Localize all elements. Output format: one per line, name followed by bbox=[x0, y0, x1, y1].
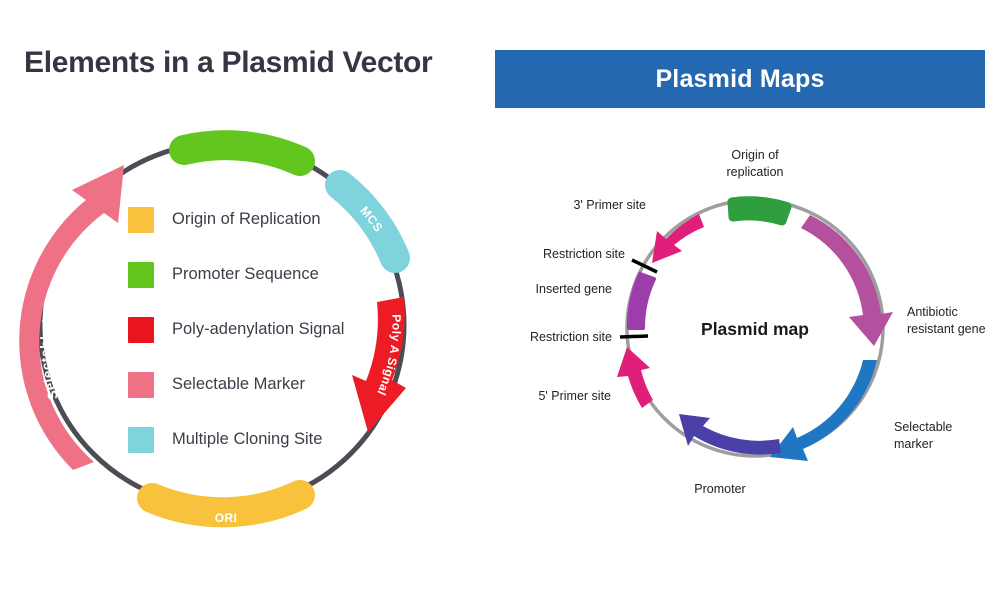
origin-of-replication-block bbox=[732, 201, 787, 221]
restriction-site-lower-label: Restriction site bbox=[530, 330, 612, 344]
plasmid-maps-banner: Plasmid Maps bbox=[495, 50, 985, 108]
left-panel: Elements in a Plasmid Vector ORI Promote… bbox=[0, 0, 470, 600]
ring-element-promoter: Promoter bbox=[0, 80, 300, 168]
selectable-marker-label-line1: Selectable bbox=[894, 420, 952, 434]
feature-inserted-gene: Inserted gene bbox=[536, 274, 654, 328]
legend-label-promoter-sequence: Promoter Sequence bbox=[172, 265, 319, 284]
feature-selectable-marker: Selectable marker bbox=[770, 360, 952, 461]
promoter-arrow bbox=[679, 414, 781, 455]
inserted-gene-block bbox=[629, 274, 654, 328]
legend-label-origin-of-replication: Origin of Replication bbox=[172, 210, 321, 229]
ring-element-ori: ORI bbox=[152, 495, 300, 525]
3-primer-site-arrow bbox=[652, 214, 704, 263]
antibiotic-resistant-gene-arrow bbox=[801, 215, 893, 346]
selectable-marker-arrow bbox=[770, 360, 877, 461]
feature-antibiotic-resistant-gene: Antibiotic resistant gene bbox=[801, 215, 986, 346]
legend-swatch-origin-of-replication bbox=[128, 207, 154, 233]
legend-label-selectable-marker: Selectable Marker bbox=[172, 375, 305, 394]
restriction-site-upper-label: Restriction site bbox=[543, 247, 625, 261]
5-primer-site-arrow bbox=[617, 347, 653, 408]
banner-title: Plasmid Maps bbox=[655, 65, 824, 94]
selectable-marker-label-line2: marker bbox=[894, 437, 933, 451]
legend-label-multiple-cloning-site: Multiple Cloning Site bbox=[172, 430, 322, 449]
legend-item-multiple-cloning-site: Multiple Cloning Site bbox=[128, 412, 388, 467]
plasmid-infographic: Elements in a Plasmid Vector ORI Promote… bbox=[0, 0, 1000, 600]
feature-restriction-site-lower: Restriction site bbox=[530, 330, 648, 344]
legend-swatch-poly-adenylation-signal bbox=[128, 317, 154, 343]
restriction-site-lower-tick bbox=[620, 336, 648, 337]
antibiotic-resistant-gene-label-line1: Antibiotic bbox=[907, 305, 958, 319]
page-title: Elements in a Plasmid Vector bbox=[24, 46, 432, 80]
inserted-gene-label: Inserted gene bbox=[536, 282, 612, 296]
origin-of-replication-label-line1: Origin of bbox=[731, 148, 779, 162]
5-primer-site-label: 5' Primer site bbox=[538, 389, 611, 403]
right-panel: Plasmid Maps Origin of replication Antib… bbox=[470, 0, 1000, 600]
legend-item-selectable-marker: Selectable Marker bbox=[128, 357, 388, 412]
ori-label: ORI bbox=[215, 511, 238, 525]
feature-5-primer-site: 5' Primer site bbox=[538, 347, 653, 408]
promoter-capsule bbox=[184, 145, 300, 161]
legend-item-promoter-sequence: Promoter Sequence bbox=[128, 247, 388, 302]
legend-swatch-multiple-cloning-site bbox=[128, 427, 154, 453]
ori-capsule bbox=[152, 495, 300, 512]
legend-swatch-promoter-sequence bbox=[128, 262, 154, 288]
legend-item-poly-adenylation-signal: Poly-adenylation Signal bbox=[128, 302, 388, 357]
plasmid-map-center-label: Plasmid map bbox=[701, 319, 809, 339]
legend-item-origin-of-replication: Origin of Replication bbox=[128, 192, 388, 247]
legend: Origin of Replication Promoter Sequence … bbox=[128, 192, 388, 467]
feature-origin-of-replication: Origin of replication bbox=[727, 148, 787, 221]
plasmid-map-diagram: Origin of replication Antibiotic resista… bbox=[470, 118, 1000, 558]
legend-swatch-selectable-marker bbox=[128, 372, 154, 398]
origin-of-replication-label-line2: replication bbox=[727, 165, 784, 179]
promoter-label: Promoter bbox=[0, 80, 32, 83]
antibiotic-resistant-gene-label-line2: resistant gene bbox=[907, 322, 986, 336]
3-primer-site-label: 3' Primer site bbox=[573, 198, 646, 212]
legend-label-poly-adenylation-signal: Poly-adenylation Signal bbox=[172, 320, 344, 339]
promoter-label: Promoter bbox=[694, 482, 745, 496]
